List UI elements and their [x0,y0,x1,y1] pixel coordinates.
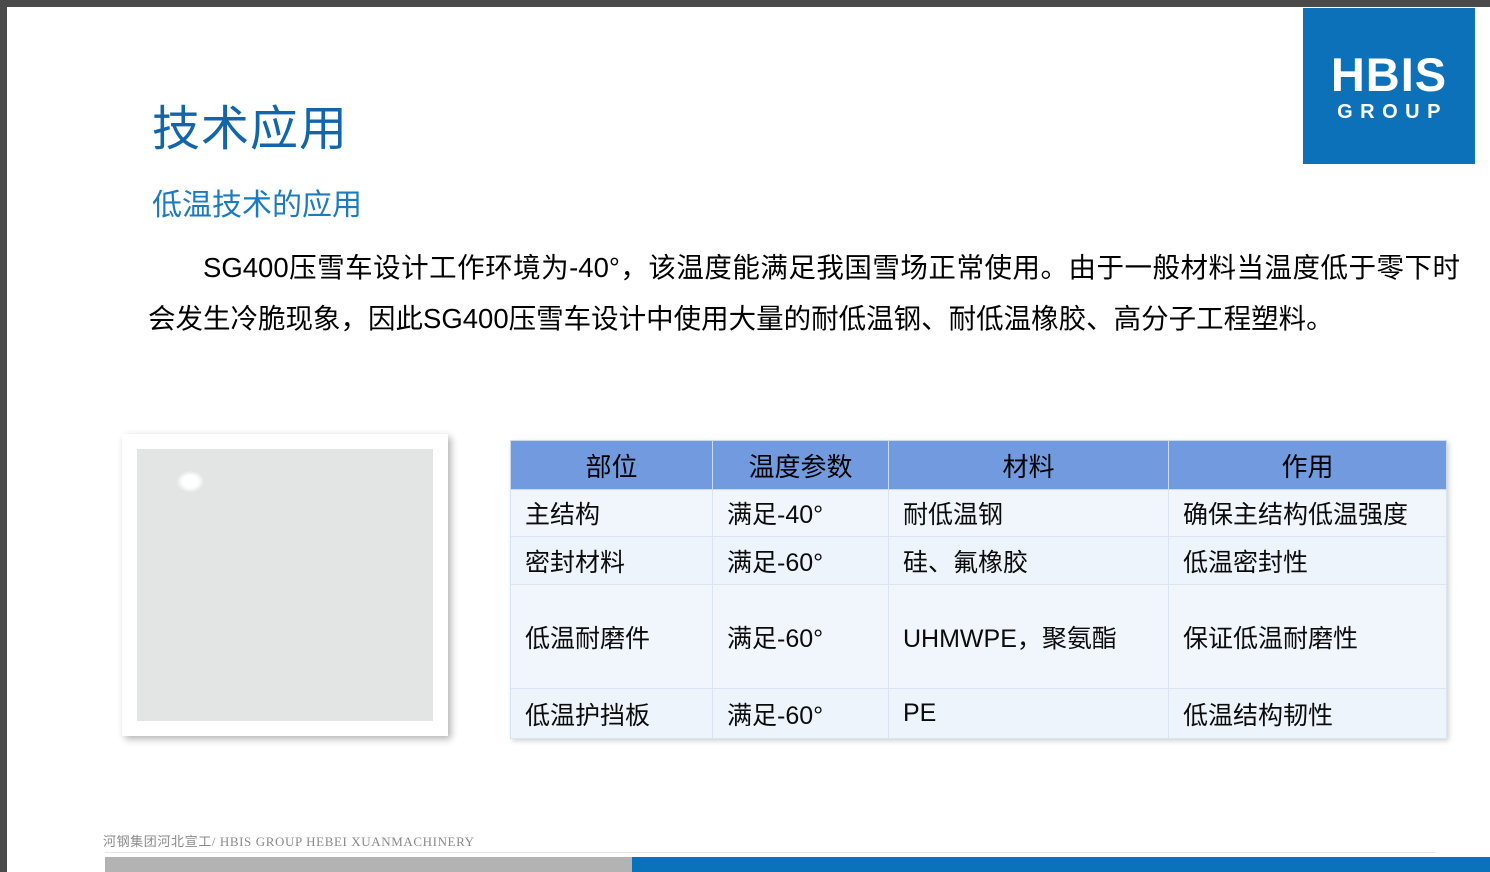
cell-part: 主结构 [511,490,713,537]
slide-frame-top-border [0,0,1490,7]
cell-function: 低温密封性 [1169,537,1447,585]
table-row: 低温耐磨件 满足-60° UHMWPE，聚氨酯 保证低温耐磨性 [511,585,1447,689]
cell-temperature: 满足-60° [713,689,889,739]
plastic-pellets-photo [137,449,433,721]
cell-part: 密封材料 [511,537,713,585]
cell-temperature: 满足-60° [713,585,889,689]
footer-company-text: 河钢集团河北宣工/ HBIS GROUP HEBEI XUANMACHINERY [103,831,475,850]
slide-canvas: HBIS GROUP 技术应用 低温技术的应用 SG400压雪车设计工作环境为-… [0,0,1490,872]
cell-material: 耐低温钢 [889,490,1169,537]
table-header-row: 部位 温度参数 材料 作用 [511,441,1447,490]
footer-bar-blue [632,857,1490,872]
logo-sub-text: GROUP [1330,102,1448,122]
cell-temperature: 满足-40° [713,490,889,537]
hbis-group-logo: HBIS GROUP [1303,8,1475,164]
footer-bar-gray [105,857,632,872]
cell-part: 低温耐磨件 [511,585,713,689]
table-row: 密封材料 满足-60° 硅、氟橡胶 低温密封性 [511,537,1447,585]
low-temperature-spec-table: 部位 温度参数 材料 作用 主结构 满足-40° 耐低温钢 确保主结构低温强度 … [510,440,1447,739]
footer-divider [105,852,1435,853]
cell-material: 硅、氟橡胶 [889,537,1169,585]
plastic-pellets-photo-frame [122,434,448,736]
slide-frame-left-border [0,0,7,872]
table-row: 主结构 满足-40° 耐低温钢 确保主结构低温强度 [511,490,1447,537]
cell-part: 低温护挡板 [511,689,713,739]
table-header-part: 部位 [511,441,713,490]
logo-main-text: HBIS [1331,51,1447,98]
cell-material: UHMWPE，聚氨酯 [889,585,1169,689]
table-header-material: 材料 [889,441,1169,490]
body-paragraph: SG400压雪车设计工作环境为-40°，该温度能满足我国雪场正常使用。由于一般材… [148,243,1460,345]
cell-function: 保证低温耐磨性 [1169,585,1447,689]
cell-function: 低温结构韧性 [1169,689,1447,739]
table-row: 低温护挡板 满足-60° PE 低温结构韧性 [511,689,1447,739]
cell-temperature: 满足-60° [713,537,889,585]
table-header-function: 作用 [1169,441,1447,490]
cell-function: 确保主结构低温强度 [1169,490,1447,537]
page-subtitle: 低温技术的应用 [152,188,362,224]
page-title: 技术应用 [152,102,348,157]
cell-material: PE [889,689,1169,739]
table-header-temperature: 温度参数 [713,441,889,490]
